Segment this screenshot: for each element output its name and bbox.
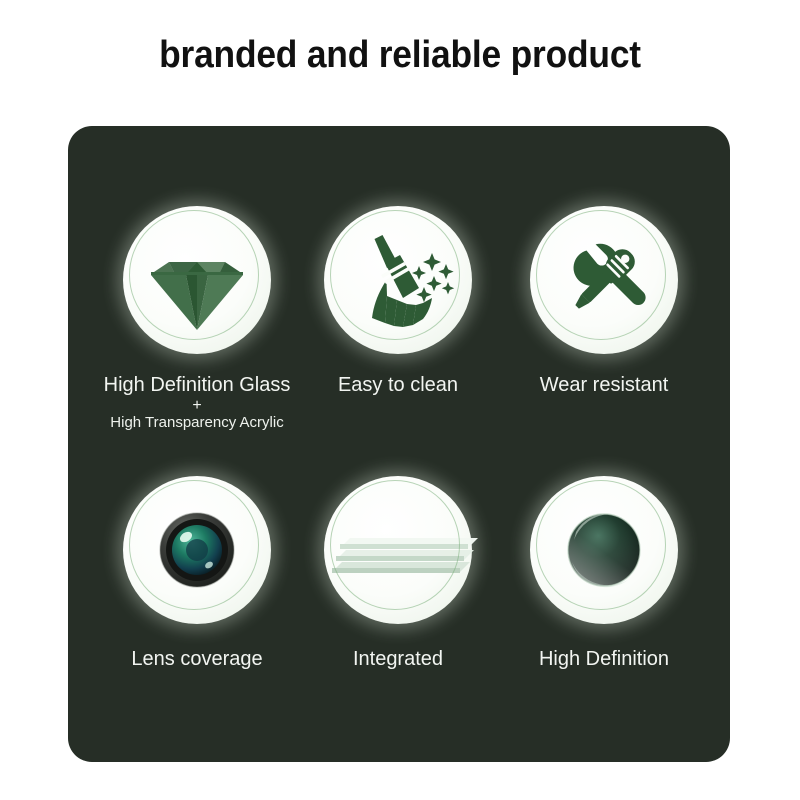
- feature-item-easy-to-clean[interactable]: Easy to clean: [298, 206, 498, 398]
- feature-item-lens-coverage[interactable]: Lens coverage: [97, 476, 297, 672]
- icon-badge: [530, 476, 678, 624]
- feature-label: Integrated: [298, 646, 498, 672]
- icon-badge: [123, 206, 271, 354]
- feature-label: High Definition: [504, 646, 704, 672]
- feature-item-high-definition-glass[interactable]: High Definition Glass + High Transparenc…: [97, 206, 297, 433]
- icon-badge: [324, 476, 472, 624]
- feature-item-integrated[interactable]: Integrated: [298, 476, 498, 672]
- feature-label: Lens coverage: [97, 646, 297, 672]
- feature-label: High Definition Glass: [97, 372, 297, 398]
- feature-label: Easy to clean: [298, 372, 498, 398]
- feature-item-wear-resistant[interactable]: Wear resistant: [504, 206, 704, 398]
- stacked-glass-sheets-icon: [310, 476, 486, 624]
- icon-badge: [123, 476, 271, 624]
- feature-grid: High Definition Glass + High Transparenc…: [68, 126, 730, 762]
- broom-sparkle-icon: [324, 206, 472, 354]
- feature-sublabel: High Transparency Acrylic: [97, 413, 297, 433]
- page-title: branded and reliable product: [28, 34, 772, 77]
- wrench-screwdriver-icon: [530, 206, 678, 354]
- feature-panel: High Definition Glass + High Transparenc…: [68, 126, 730, 762]
- feature-label-plus: +: [97, 398, 297, 413]
- glass-dome-icon: [530, 476, 678, 624]
- feature-label: Wear resistant: [504, 372, 704, 398]
- icon-badge: [324, 206, 472, 354]
- icon-badge: [530, 206, 678, 354]
- diamond-icon: [123, 206, 271, 354]
- feature-item-high-definition[interactable]: High Definition: [504, 476, 704, 672]
- camera-lens-icon: [123, 476, 271, 624]
